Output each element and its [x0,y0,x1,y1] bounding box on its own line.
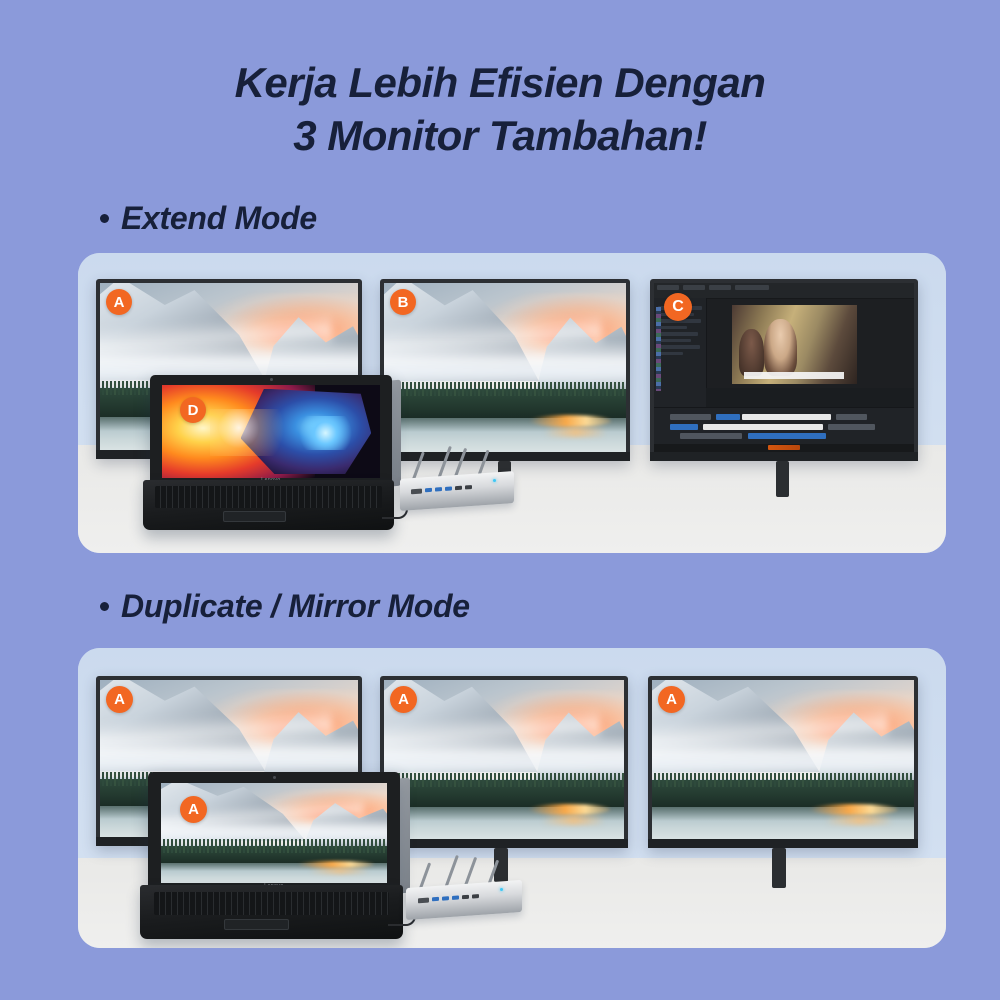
video-editing-app [654,283,914,452]
laptop-base [143,480,395,530]
docking-station[interactable] [400,451,514,507]
laptop-keyboard[interactable] [154,892,390,916]
scene-duplicate-mode: A A [78,648,946,948]
sd-card-slot[interactable] [411,488,422,494]
laptop-base [140,885,402,939]
power-port[interactable] [472,894,479,898]
scene-extend-mode: A B [78,253,946,553]
section-heading-duplicate-label: Duplicate / Mirror Mode [121,588,470,624]
monitor-c[interactable]: C [650,279,918,461]
usb-port[interactable] [425,488,432,492]
badge-monitor-a: A [106,289,132,315]
monitor-2-chin [380,839,628,848]
laptop-trackpad[interactable] [223,511,285,522]
webcam-icon [270,378,273,381]
badge-monitor-c: C [664,293,692,321]
app-preview-monitor [732,305,857,384]
monitor-3-chin [648,839,918,848]
monitor-b-screen [384,283,626,452]
bullet-icon [100,214,109,223]
bullet-icon [100,602,109,611]
monitor-c-stand [776,461,789,497]
app-color-swatches [656,307,661,392]
monitor-3-stand [772,848,786,888]
app-timeline-panel [654,407,914,443]
laptop-lid: Lenovo [148,772,400,890]
monitor-c-chin [650,452,918,461]
monitor-2-frame [380,676,628,848]
app-effects-panel [706,388,914,408]
audio-port[interactable] [462,895,469,899]
laptop-d[interactable]: Lenovo D [150,375,392,527]
app-status-bar [654,444,914,452]
page-title-line2: 3 Monitor Tambahan! [0,109,1000,162]
badge-monitor-b: B [390,289,416,315]
landscape-wallpaper [384,283,626,452]
power-port[interactable] [465,485,472,489]
badge-monitor-2: A [390,686,417,713]
usb-port[interactable] [432,897,439,901]
monitor-2-screen [384,680,624,839]
landscape-wallpaper [384,680,624,839]
laptop-lid: Lenovo [150,375,392,484]
webcam-icon [273,776,276,779]
page-title-line1: Kerja Lebih Efisien Dengan [235,59,766,106]
landscape-wallpaper [652,680,914,839]
page-title: Kerja Lebih Efisien Dengan 3 Monitor Tam… [0,56,1000,163]
section-heading-extend-label: Extend Mode [121,200,317,236]
monitor-2[interactable]: A [380,676,628,848]
monitor-3[interactable]: A [648,676,918,848]
sd-card-slot[interactable] [418,897,429,903]
usb-port[interactable] [445,486,452,490]
badge-monitor-3: A [658,686,685,713]
usb-port[interactable] [442,896,449,900]
badge-monitor-1: A [106,686,133,713]
section-heading-extend: Extend Mode [100,200,317,237]
monitor-c-screen [654,283,914,452]
usb-port[interactable] [452,895,459,899]
audio-port[interactable] [455,486,462,490]
monitor-3-screen [652,680,914,839]
monitor-b[interactable]: B [380,279,630,461]
badge-laptop-d: D [180,397,206,423]
badge-laptop-mirror: A [180,796,207,823]
section-heading-duplicate: Duplicate / Mirror Mode [100,588,470,625]
laptop-keyboard[interactable] [155,486,382,508]
monitor-b-frame [380,279,630,461]
usb-port[interactable] [435,487,442,491]
app-menu-bar [654,283,914,299]
docking-station[interactable] [406,860,522,916]
laptop-mirror[interactable]: Lenovo A [148,772,400,936]
laptop-trackpad[interactable] [224,919,289,931]
monitor-3-frame [648,676,918,848]
promo-graphic: Kerja Lebih Efisien Dengan 3 Monitor Tam… [0,0,1000,1000]
